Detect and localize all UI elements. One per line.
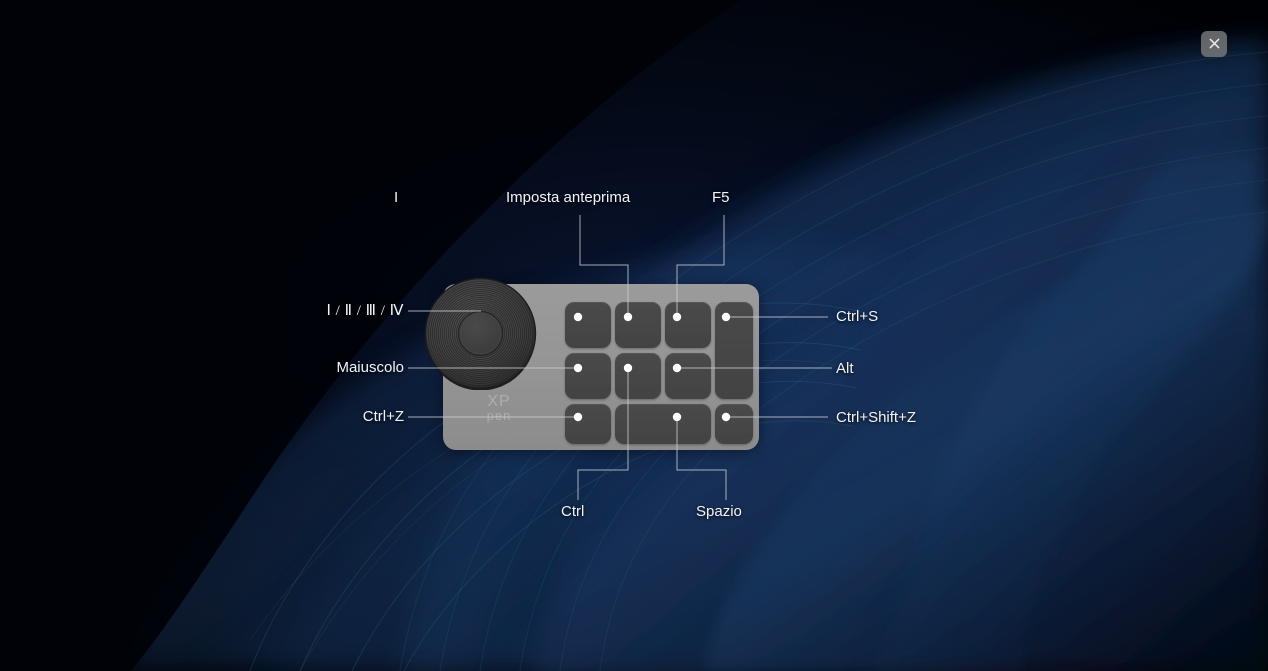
- key-5[interactable]: [565, 353, 611, 399]
- key-9[interactable]: [565, 404, 611, 444]
- label-wheel-mode: I: [394, 189, 398, 207]
- label-dial-modes: Ⅰ / Ⅱ / Ⅲ / Ⅳ: [224, 302, 404, 320]
- label-spazio: Spazio: [696, 503, 742, 521]
- label-ctrl-s: Ctrl+S: [836, 308, 878, 326]
- logo-line-1: XP: [471, 394, 527, 409]
- key-1[interactable]: [565, 302, 611, 348]
- key-10-spacebar[interactable]: [615, 404, 711, 444]
- label-alt: Alt: [836, 360, 854, 378]
- key-8[interactable]: [665, 353, 711, 399]
- logo-line-2: pen: [471, 408, 527, 423]
- key-4[interactable]: [715, 302, 753, 399]
- dial-wheel[interactable]: [424, 277, 537, 390]
- label-ctrl-shift-z: Ctrl+Shift+Z: [836, 409, 916, 427]
- close-button[interactable]: [1201, 31, 1227, 57]
- key-11[interactable]: [715, 404, 753, 444]
- label-ctrl: Ctrl: [561, 503, 584, 521]
- xp-pen-logo: XP pen: [471, 394, 527, 428]
- overlay-screen: XP pen: [0, 0, 1268, 671]
- close-icon: [1209, 37, 1220, 52]
- label-maiuscolo: Maiuscolo: [224, 359, 404, 377]
- label-f5: F5: [712, 189, 730, 207]
- key-3[interactable]: [665, 302, 711, 348]
- key-2[interactable]: [615, 302, 661, 348]
- key-6[interactable]: [615, 353, 661, 399]
- label-imposta-anteprima: Imposta anteprima: [506, 189, 630, 207]
- label-ctrl-z: Ctrl+Z: [224, 408, 404, 426]
